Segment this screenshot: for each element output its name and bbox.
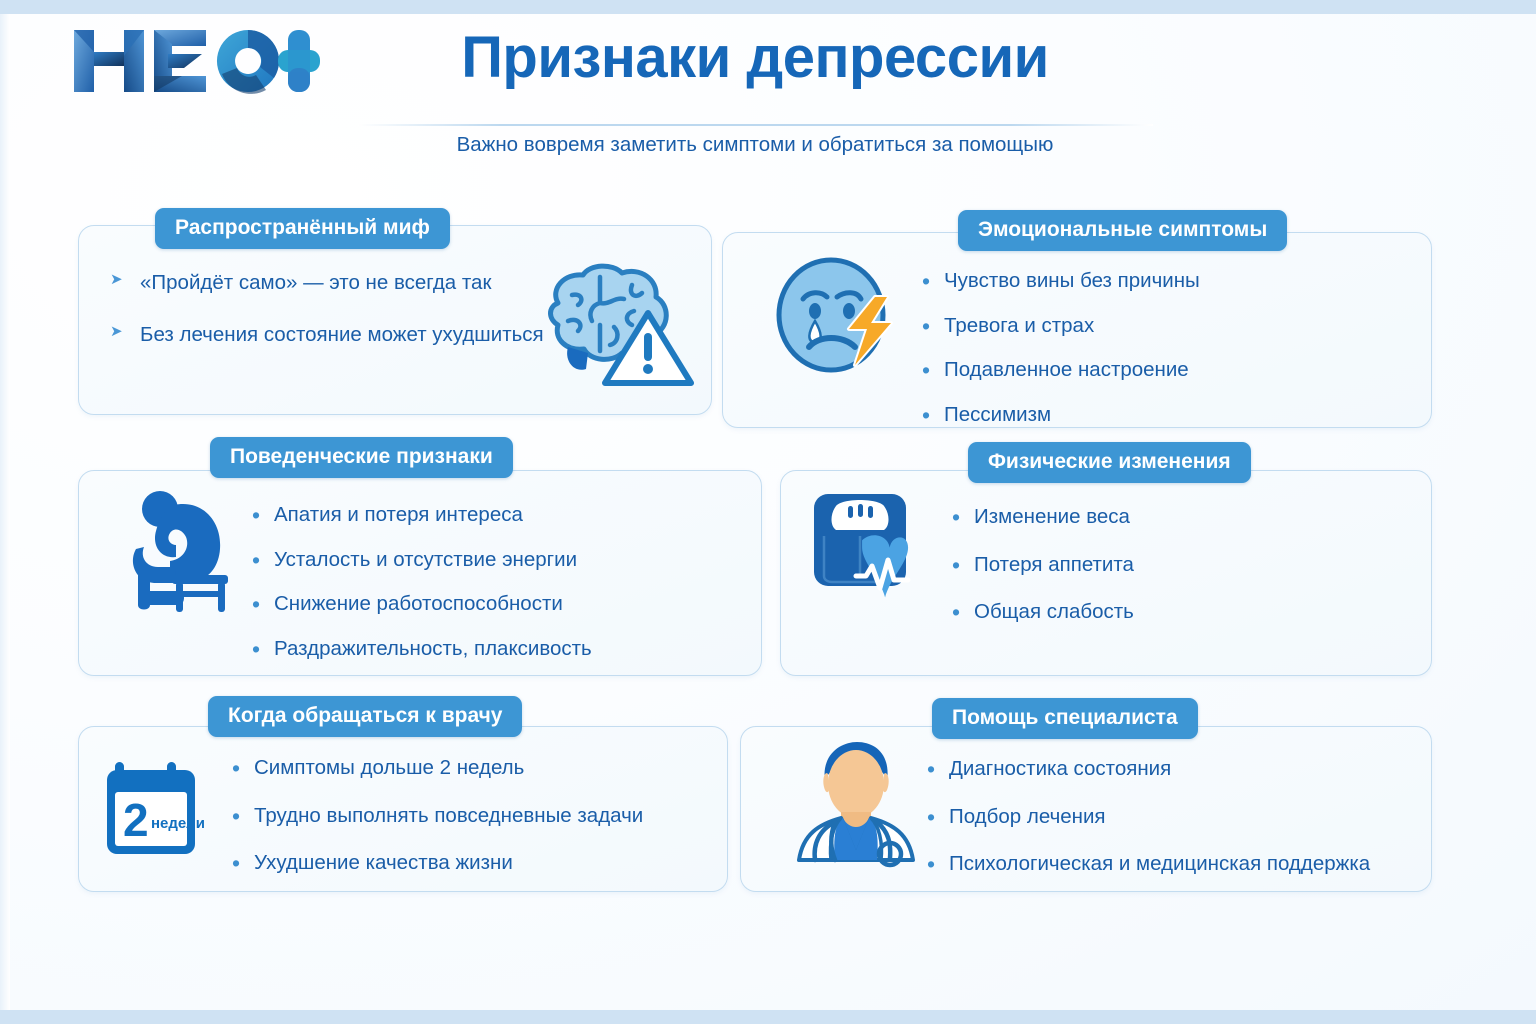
card-specialist-help-title: Помощь специалиста [932, 698, 1198, 739]
card-myth-title: Распространённый миф [155, 208, 450, 249]
page-subtitle: Важно вовремя заметить симптоми и обрати… [355, 133, 1155, 157]
calendar-two-weeks-icon: 2 недели [105, 758, 215, 858]
list-item: Диагностика состояния [925, 756, 1425, 782]
title-divider [358, 124, 1153, 126]
card-physical-list: Изменение веса Потеря аппетита Общая сла… [950, 504, 1390, 625]
calendar-number: 2 [123, 794, 149, 846]
page-header: Признаки депрессии Важно вовремя заметит… [0, 0, 1536, 175]
page-title: Признаки депрессии [355, 28, 1155, 89]
slumped-person-icon [130, 487, 240, 617]
list-item: Психологическая и медицинская поддержка [925, 851, 1425, 877]
card-when-to-see-doctor-list: Симптомы дольше 2 недель Трудно выполнят… [230, 755, 670, 876]
bottom-accent-band [0, 1010, 1536, 1024]
calendar-caption: недели [151, 815, 205, 832]
list-item: Апатия и потеря интереса [250, 502, 670, 528]
card-behavioral-body: Апатия и потеря интереса Усталость и отс… [250, 502, 670, 662]
list-item: Чувство вины без причины [920, 268, 1400, 294]
list-item: Трудно выполнять повседневные задачи [230, 803, 670, 829]
list-item: Усталость и отсутствие энергии [250, 547, 670, 573]
neo-plus-logo [72, 22, 322, 102]
list-item: Пессимизм [920, 402, 1400, 428]
card-behavioral-list: Апатия и потеря интереса Усталость и отс… [250, 502, 670, 662]
brain-warning-icon [528, 255, 693, 390]
card-emotional-body: Чувство вины без причины Тревога и страх… [920, 268, 1400, 428]
card-specialist-help-body: Диагностика состояния Подбор лечения Пси… [925, 756, 1425, 877]
weight-scale-heart-icon [812, 492, 937, 610]
list-item: Без лечения состояние может ухудшиться [110, 322, 530, 348]
list-item: Снижение работоспособности [250, 591, 670, 617]
list-item: Изменение веса [950, 504, 1390, 530]
card-emotional-list: Чувство вины без причины Тревога и страх… [920, 268, 1400, 428]
list-item: Подбор лечения [925, 804, 1425, 830]
list-item: «Пройдёт само» — это не всегда так [110, 270, 530, 296]
card-myth-list: «Пройдёт само» — это не всегда так Без л… [110, 270, 530, 347]
card-when-to-see-doctor-body: Симптомы дольше 2 недель Трудно выполнят… [230, 755, 670, 876]
doctor-icon [785, 738, 925, 863]
list-item: Тревога и страх [920, 313, 1400, 339]
card-myth-body: «Пройдёт само» — это не всегда так Без л… [110, 270, 530, 347]
card-emotional-title: Эмоциональные симптомы [958, 210, 1287, 251]
sad-face-lightning-icon [775, 255, 905, 380]
card-when-to-see-doctor-title: Когда обращаться к врачу [208, 696, 522, 737]
list-item: Общая слабость [950, 599, 1390, 625]
list-item: Ухудшение качества жизни [230, 850, 670, 876]
list-item: Подавленное настроение [920, 357, 1400, 383]
list-item: Симптомы дольше 2 недель [230, 755, 670, 781]
card-physical-title: Физические изменения [968, 442, 1251, 483]
list-item: Раздражительность, плаксивость [250, 636, 670, 662]
card-physical-body: Изменение веса Потеря аппетита Общая сла… [950, 504, 1390, 625]
card-behavioral-title: Поведенческие признаки [210, 437, 513, 478]
list-item: Потеря аппетита [950, 552, 1390, 578]
card-specialist-help-list: Диагностика состояния Подбор лечения Пси… [925, 756, 1425, 877]
